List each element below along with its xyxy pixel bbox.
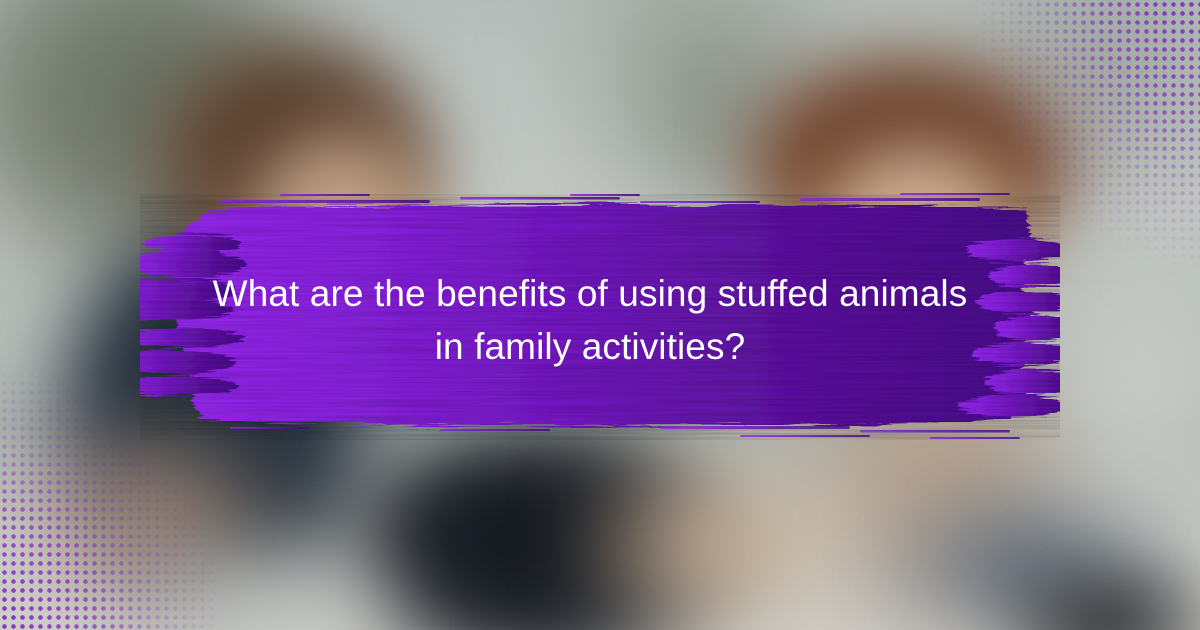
headline-line-2: in family activities? bbox=[170, 321, 1010, 374]
headline-line-1: What are the benefits of using stuffed a… bbox=[170, 268, 1010, 321]
featured-image-canvas: What are the benefits of using stuffed a… bbox=[0, 0, 1200, 630]
headline-text: What are the benefits of using stuffed a… bbox=[170, 268, 1010, 373]
